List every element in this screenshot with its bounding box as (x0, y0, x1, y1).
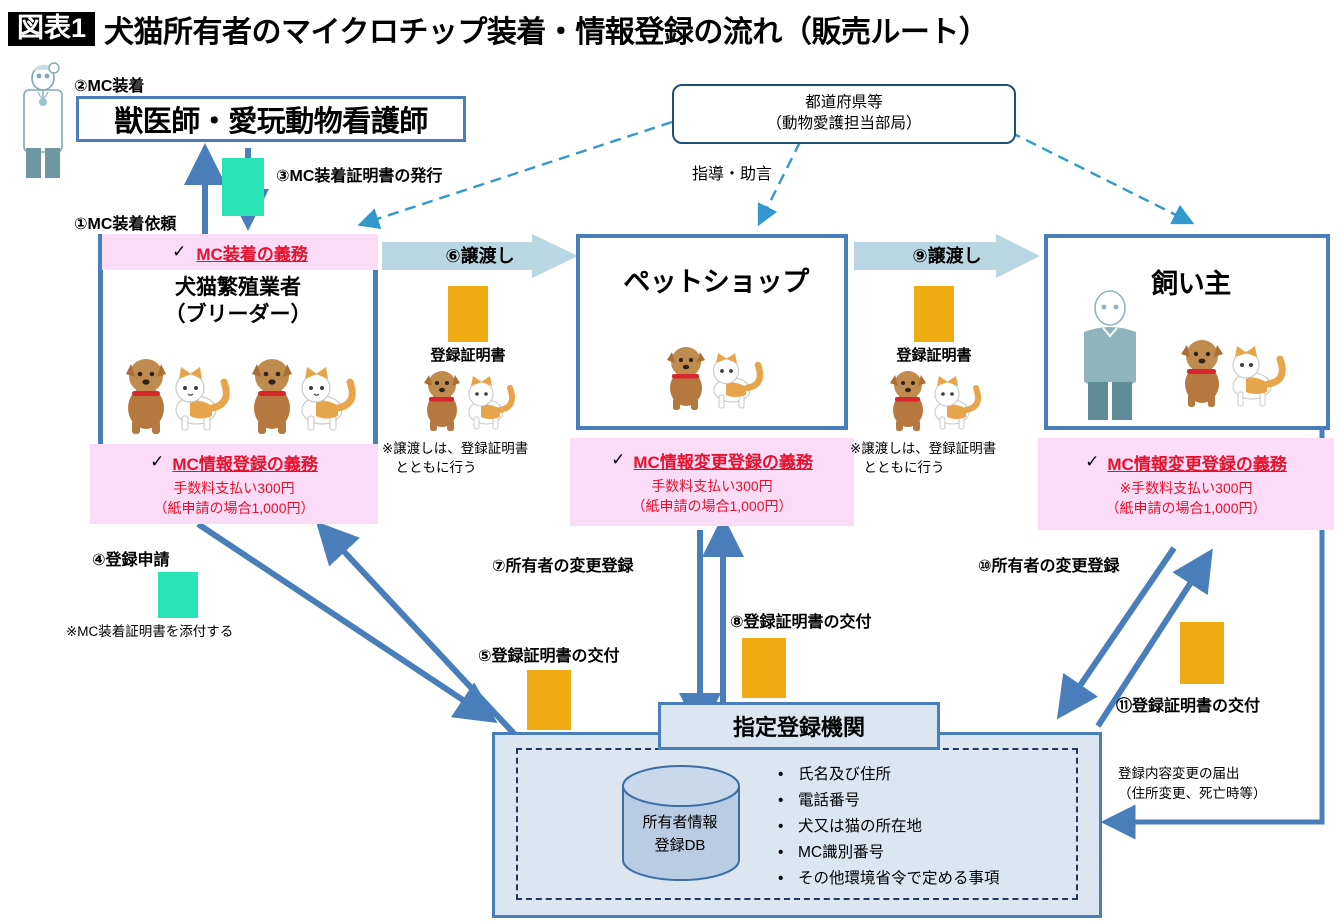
transfer-2-note-line2: とともに行う (850, 459, 1056, 478)
step-7-label: ⑦所有者の変更登録 (492, 552, 634, 576)
dog-icon (1181, 340, 1223, 407)
dog-icon (667, 347, 705, 410)
transfer-1-note-line2: とともに行う (382, 459, 588, 478)
breeder-name-line1: 犬猫繁殖業者 (98, 274, 378, 301)
list-item-label: MC識別番号 (798, 840, 884, 866)
veterinarian-box: 獣医師・愛玩動物看護師 (76, 96, 466, 142)
breeder-name: 犬猫繁殖業者 （ブリーダー） (98, 274, 378, 329)
transfer-2-note: ※譲渡しは、登録証明書 とともに行う (850, 440, 1056, 478)
veterinarian-icon (14, 62, 72, 182)
prefecture-line2: （動物愛護担当部局） (766, 114, 921, 135)
breeder-obligation-bottom-label: MC情報登録の義務 (172, 450, 317, 475)
step-10-label: ⑩所有者の変更登録 (978, 552, 1120, 576)
owner-box: 飼い主 (1044, 234, 1330, 430)
veterinarian-label: 獣医師・愛玩動物看護師 (114, 98, 428, 140)
list-item: •氏名及び住所 (778, 762, 1088, 788)
dog-icon (424, 371, 460, 431)
breeder-fee-line2: （紙申請の場合1,000円） (153, 498, 314, 518)
step-1-label: ①MC装着依頼 (74, 210, 176, 234)
list-item-label: 犬又は猫の所在地 (798, 814, 922, 840)
breeder-name-line2: （ブリーダー） (98, 301, 378, 328)
pet-shop-fee-line2: （紙申請の場合1,000円） (631, 496, 792, 516)
database-label-line2: 登録DB (600, 835, 760, 858)
breeder-obligation-footer: ✓ MC情報登録の義務 手数料支払い300円 （紙申請の場合1,000円） (90, 444, 378, 524)
mc-certificate-card-vet (222, 158, 264, 216)
change-note-line1: 登録内容変更の届出 (1118, 764, 1267, 784)
list-item-label: 氏名及び住所 (798, 762, 891, 788)
agency-title-box: 指定登録機関 (658, 702, 940, 750)
pet-shop-obligation-label: MC情報変更登録の義務 (633, 448, 812, 473)
agency-item-list: •氏名及び住所 •電話番号 •犬又は猫の所在地 •MC識別番号 •その他環境省令… (778, 762, 1088, 892)
list-item: •MC識別番号 (778, 840, 1088, 866)
list-item-label: その他環境省令で定める事項 (798, 866, 1000, 892)
cat-icon (176, 367, 226, 430)
owner-fee-line2: （紙申請の場合1,000円） (1105, 498, 1266, 518)
list-item: •電話番号 (778, 788, 1088, 814)
registration-certificate-card-8 (742, 638, 786, 698)
breeder-obligation-top-label: MC装着の義務 (196, 240, 307, 265)
transfer-1-note: ※譲渡しは、登録証明書 とともに行う (382, 440, 588, 478)
registration-certificate-card-1 (448, 286, 488, 342)
step-5-label: ⑤登録証明書の交付 (478, 642, 620, 666)
prefecture-line1: 都道府県等 (805, 93, 883, 114)
arrow-step5-certificate (322, 528, 520, 740)
registration-certificate-card-5 (527, 670, 571, 730)
bullet-icon: • (778, 788, 784, 814)
list-item: •犬又は猫の所在地 (778, 814, 1088, 840)
transfer-1-note-line1: ※譲渡しは、登録証明書 (382, 440, 588, 459)
dashed-arrow-to-owner (1010, 132, 1190, 222)
transfer-2-label: ⑨譲渡し (854, 242, 1040, 268)
bullet-icon: • (778, 866, 784, 892)
step-8-label: ⑧登録証明書の交付 (730, 608, 872, 632)
database-label-line1: 所有者情報 (600, 812, 760, 835)
pet-shop-name: ペットショップ (580, 260, 852, 299)
transfer-arrow-2: ⑨譲渡し (854, 234, 1040, 278)
list-item-label: 電話番号 (798, 788, 860, 814)
advice-label: 指導・助言 (692, 160, 772, 184)
pet-shop-box: ペットショップ (576, 234, 848, 430)
cat-icon (302, 367, 352, 430)
step-2-label: ②MC装着 (74, 72, 144, 96)
dog-icon (890, 371, 926, 431)
registration-certificate-card-2 (914, 286, 954, 342)
owner-obligation-label: MC情報変更登録の義務 (1107, 450, 1286, 475)
dog-icon (126, 359, 166, 434)
cat-icon (1233, 346, 1282, 406)
check-icon: ✓ (611, 450, 625, 470)
agency-title-label: 指定登録機関 (733, 710, 865, 742)
step-3-label: ③MC装着証明書の発行 (276, 162, 442, 186)
transfer-arrow-1: ⑥譲渡し (382, 234, 578, 278)
cat-icon (935, 376, 978, 429)
pet-shop-obligation-footer: ✓ MC情報変更登録の義務 手数料支払い300円 （紙申請の場合1,000円） (570, 438, 854, 526)
transfer-2-note-line1: ※譲渡しは、登録証明書 (850, 440, 1056, 459)
mc-certificate-card-application (158, 572, 198, 618)
cat-icon (714, 353, 760, 408)
step-4-label: ④登録申請 (92, 546, 170, 570)
check-icon: ✓ (150, 452, 164, 472)
breeder-group: ✓ MC装着の義務 犬猫繁殖業者 （ブリーダー） (98, 234, 378, 524)
step-4-note: ※MC装着証明書を添付する (66, 620, 233, 640)
owner-obligation-footer: ✓ MC情報変更登録の義務 ※手数料支払い300円 （紙申請の場合1,000円） (1038, 438, 1334, 530)
step-11-label: ⑪登録証明書の交付 (1116, 692, 1260, 716)
owner-fee-line1: ※手数料支払い300円 (1119, 478, 1252, 498)
check-icon: ✓ (1085, 452, 1099, 472)
database-label: 所有者情報 登録DB (600, 812, 760, 857)
transfer-1-label: ⑥譲渡し (382, 242, 578, 268)
bullet-icon: • (778, 762, 784, 788)
bullet-icon: • (778, 840, 784, 866)
breeder-obligation-header: ✓ MC装着の義務 (102, 234, 378, 270)
list-item: •その他環境省令で定める事項 (778, 866, 1088, 892)
change-notification-note: 登録内容変更の届出 （住所変更、死亡時等） (1118, 764, 1267, 805)
registration-certificate-card-11 (1180, 622, 1224, 684)
bullet-icon: • (778, 814, 784, 840)
pet-shop-fee-line1: 手数料支払い300円 (651, 476, 772, 496)
prefecture-box: 都道府県等 （動物愛護担当部局） (672, 84, 1016, 144)
dog-icon (252, 359, 292, 434)
cat-icon (469, 376, 512, 429)
check-icon: ✓ (172, 242, 186, 262)
change-note-line2: （住所変更、死亡時等） (1118, 784, 1267, 804)
breeder-fee-line1: 手数料支払い300円 (173, 478, 294, 498)
